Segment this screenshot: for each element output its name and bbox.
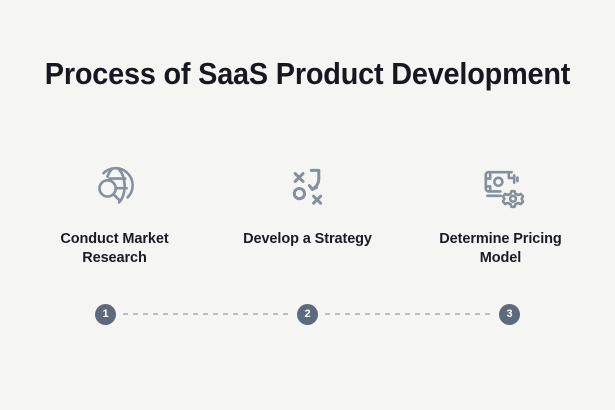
step-label-2: Develop a Strategy	[243, 230, 372, 249]
slide-canvas: Process of SaaS Product Development Cond…	[0, 0, 615, 410]
step-item-1: Conduct Market Research	[18, 158, 211, 268]
progress-dashes-2	[325, 313, 492, 315]
step-marker-3[interactable]: 3	[499, 304, 520, 325]
step-item-3: Determine Pricing Model	[404, 158, 597, 268]
step-label-1: Conduct Market Research	[60, 230, 168, 268]
banknote-gear-icon	[473, 158, 529, 214]
progress-dashes-1	[123, 313, 290, 315]
strategy-playbook-icon	[280, 158, 336, 214]
step-marker-1[interactable]: 1	[95, 304, 116, 325]
step-item-2: Develop a Strategy	[211, 158, 404, 249]
progress-track: 1 2 3	[95, 303, 520, 325]
step-marker-2[interactable]: 2	[297, 304, 318, 325]
steps-row: Conduct Market Research Develop a Strate…	[0, 158, 615, 268]
step-label-3: Determine Pricing Model	[439, 230, 561, 268]
globe-magnifier-icon	[87, 158, 143, 214]
page-title: Process of SaaS Product Development	[22, 55, 594, 93]
